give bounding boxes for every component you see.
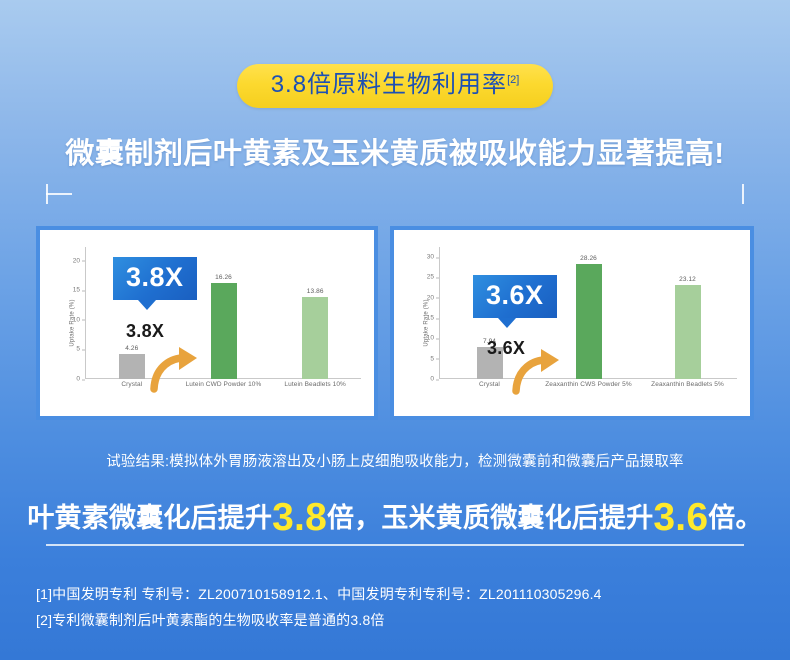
statement-part2: 玉米黄质微囊化后提升 <box>381 503 653 533</box>
statement-unit1: 倍 <box>327 503 354 533</box>
footnote-2: [2]专利微囊制剂后叶黄素酯的生物吸收率是普通的3.8倍 <box>36 608 602 634</box>
chart1-callout-pointer <box>138 300 156 310</box>
chart2-ytick: 30 <box>427 254 434 261</box>
statement-underline <box>46 544 744 546</box>
chart1-ytick: 0 <box>76 376 80 383</box>
chart2-bar <box>675 285 701 379</box>
chart1-bar <box>211 283 237 379</box>
chart1-multiplier-label: 3.8X <box>126 321 164 342</box>
chart1-growth-arrow-icon <box>149 345 203 398</box>
chart2-ytick: 10 <box>427 335 434 342</box>
chart1-bar-value: 13.86 <box>307 288 324 295</box>
chart-panel-lutein: Uptake Rate (%) 0 5 10 15 20 4.26 <box>36 226 378 420</box>
chart1-ytick: 10 <box>73 316 80 323</box>
chart2-ytick: 0 <box>430 376 434 383</box>
chart2-ytick: 25 <box>427 274 434 281</box>
top-badge-container: 3.8倍原料生物利用率[2] <box>0 64 790 108</box>
footnotes: [1]中国发明专利 专利号：ZL200710158912.1、中国发明专利专利号… <box>36 582 602 634</box>
chart1-bar <box>302 297 328 379</box>
chart2-ytick: 15 <box>427 315 434 322</box>
top-badge-superscript: [2] <box>507 74 519 86</box>
chart2-bar-group: 23.12 <box>638 249 737 379</box>
chart2-bar-value: 28.26 <box>580 255 597 262</box>
summary-statement: 叶黄素微囊化后提升3.8倍，玉米黄质微囊化后提升3.6倍。 <box>0 498 790 537</box>
divider-line <box>46 193 72 195</box>
chart-lutein: Uptake Rate (%) 0 5 10 15 20 4.26 <box>45 235 369 411</box>
charts-container: Uptake Rate (%) 0 5 10 15 20 4.26 <box>36 226 754 420</box>
chart2-ytick: 5 <box>430 355 434 362</box>
chart2-y-ticks: 0 5 10 15 20 25 30 <box>415 249 439 379</box>
top-badge-text: 3.8倍原料生物利用率 <box>271 71 507 98</box>
chart2-bar <box>576 264 602 379</box>
experiment-caption: 试验结果:模拟体外胃肠液溶出及小肠上皮细胞吸收能力，检测微囊前和微囊后产品摄取率 <box>0 450 790 471</box>
chart1-ytick: 20 <box>73 257 80 264</box>
chart-panel-zeaxanthin: Uptake Rate (%) 0 5 10 15 20 25 30 7.94 <box>390 226 754 420</box>
chart2-xtick: Zeaxanthin Beadlets 5% <box>638 381 737 393</box>
chart2-callout-text: 3.6X <box>473 275 557 318</box>
chart1-ytick: 5 <box>76 346 80 353</box>
statement-unit2: 倍 <box>708 503 735 533</box>
statement-value1: 3.8 <box>272 496 327 539</box>
chart1-bar-value: 16.26 <box>215 274 232 281</box>
chart1-bar-value: 4.26 <box>125 345 138 352</box>
chart1-xtick: Lutein Beadlets 10% <box>269 381 361 393</box>
footnote-1: [1]中国发明专利 专利号：ZL200710158912.1、中国发明专利专利号… <box>36 582 602 608</box>
chart1-y-ticks: 0 5 10 15 20 <box>61 249 85 379</box>
chart1-ytick: 15 <box>73 287 80 294</box>
chart1-bar-group: 13.86 <box>269 249 361 379</box>
chart2-bar-value: 23.12 <box>679 276 696 283</box>
chart-zeaxanthin: Uptake Rate (%) 0 5 10 15 20 25 30 7.94 <box>399 235 745 411</box>
chart2-callout-pointer <box>498 318 516 328</box>
chart2-x-labels: Crystal Zeaxanthin CWS Powder 5% Zeaxant… <box>440 381 737 393</box>
chart2-growth-arrow-icon <box>511 347 565 400</box>
statement-separator: ， <box>354 503 381 533</box>
statement-part1: 叶黄素微囊化后提升 <box>27 503 272 533</box>
chart1-callout-badge: 3.8X <box>113 257 197 310</box>
divider-cap-right <box>742 184 744 204</box>
top-badge-pill: 3.8倍原料生物利用率[2] <box>237 64 554 108</box>
statement-value2: 3.6 <box>653 496 708 539</box>
divider-rule <box>46 184 744 204</box>
chart1-x-labels: Crystal Lutein CWD Powder 10% Lutein Bea… <box>86 381 361 393</box>
chart2-ytick: 20 <box>427 294 434 301</box>
chart2-callout-badge: 3.6X <box>473 275 557 328</box>
chart1-callout-text: 3.8X <box>113 257 197 300</box>
page-title: 微囊制剂后叶黄素及玉米黄质被吸收能力显著提高! <box>0 130 790 172</box>
chart1-bar <box>119 354 145 379</box>
statement-end: 。 <box>735 503 762 533</box>
